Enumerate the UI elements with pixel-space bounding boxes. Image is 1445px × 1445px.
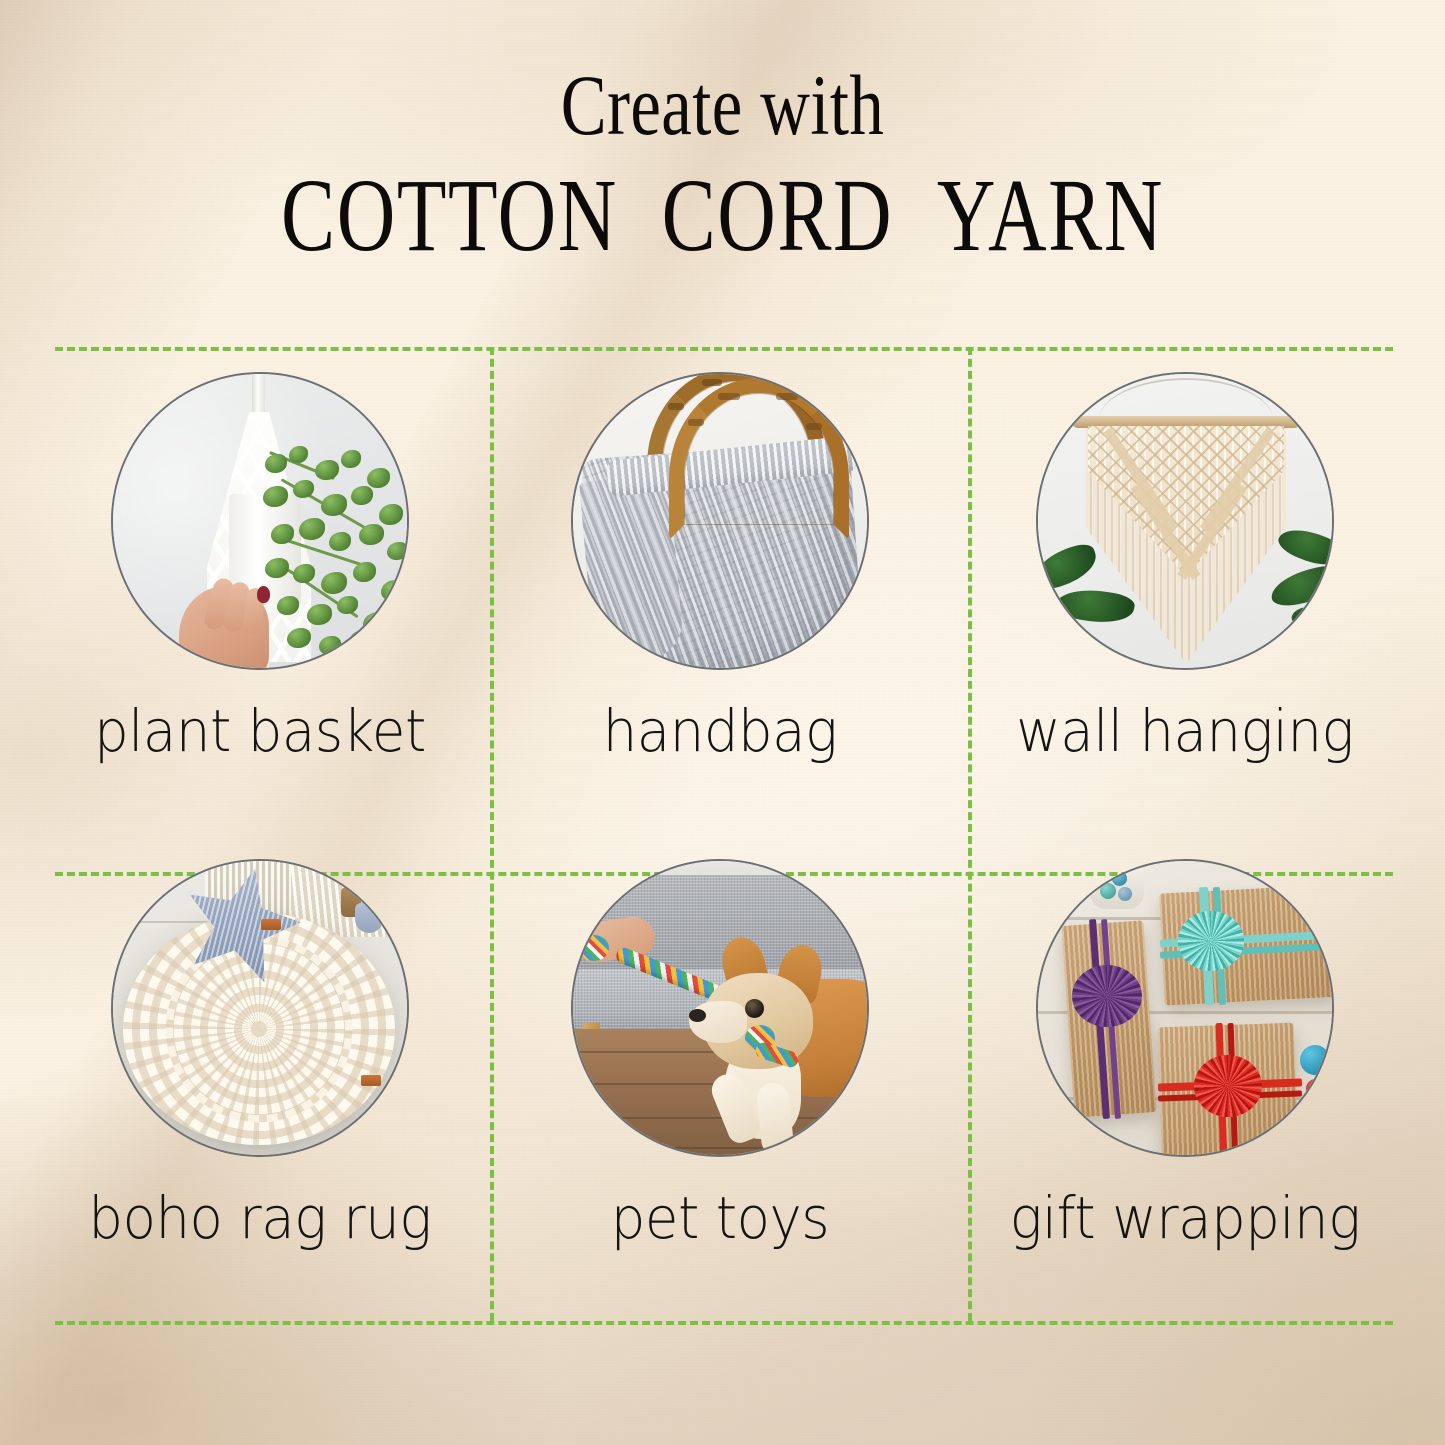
pet-toys-illustration (573, 861, 867, 1155)
thumbnail-plant-basket[interactable] (111, 372, 409, 670)
headline-word-cotton: COTTON (281, 164, 618, 268)
wall-hanging-illustration (1038, 374, 1332, 668)
thumbnail-boho-rag-rug[interactable] (111, 859, 409, 1157)
grid-cell-wall-hanging[interactable]: wall hanging (955, 347, 1415, 834)
thumbnail-pet-toys[interactable] (571, 859, 869, 1157)
thumbnail-handbag[interactable] (571, 372, 869, 670)
thumbnail-wall-hanging[interactable] (1036, 372, 1334, 670)
thumbnail-gift-wrapping[interactable] (1036, 859, 1334, 1157)
pompom-purple (1072, 965, 1142, 1027)
divider-horizontal-bottom (55, 1321, 1393, 1325)
headline-line-1: Create with (145, 62, 1301, 148)
grid-cell-pet-toys[interactable]: pet toys (490, 834, 950, 1321)
cell-label-plant-basket: plant basket (44, 697, 476, 765)
pompom-teal (1178, 911, 1244, 971)
bauble-red (1306, 1079, 1325, 1098)
cell-label-pet-toys: pet toys (504, 1184, 936, 1252)
grid-cell-plant-basket[interactable]: plant basket (30, 347, 490, 834)
cell-label-handbag: handbag (504, 697, 936, 765)
headline: Create with COTTONCORDYARN (0, 62, 1445, 268)
trailing-plant-icon (263, 446, 409, 662)
cell-label-wall-hanging: wall hanging (969, 697, 1401, 765)
cell-label-gift-wrapping: gift wrapping (969, 1184, 1401, 1252)
poster-canvas: Create with COTTONCORDYARN (0, 0, 1445, 1445)
boho-rag-rug-illustration (113, 861, 407, 1155)
bauble-blue (1300, 1045, 1330, 1075)
grid-cell-boho-rag-rug[interactable]: boho rag rug (30, 834, 490, 1321)
plant-basket-illustration (113, 374, 407, 668)
grid-cell-gift-wrapping[interactable]: gift wrapping (955, 834, 1415, 1321)
headline-line-2: COTTONCORDYARN (159, 164, 1286, 268)
cell-label-boho-rag-rug: boho rag rug (44, 1184, 476, 1252)
gift-wrapping-illustration (1038, 861, 1332, 1155)
project-grid: plant basket (0, 347, 1445, 1321)
pompom-red (1194, 1055, 1262, 1117)
grid-cell-handbag[interactable]: handbag (490, 347, 950, 834)
headline-word-cord: CORD (662, 164, 894, 268)
headline-word-yarn: YARN (937, 164, 1164, 268)
handbag-illustration (573, 374, 867, 668)
